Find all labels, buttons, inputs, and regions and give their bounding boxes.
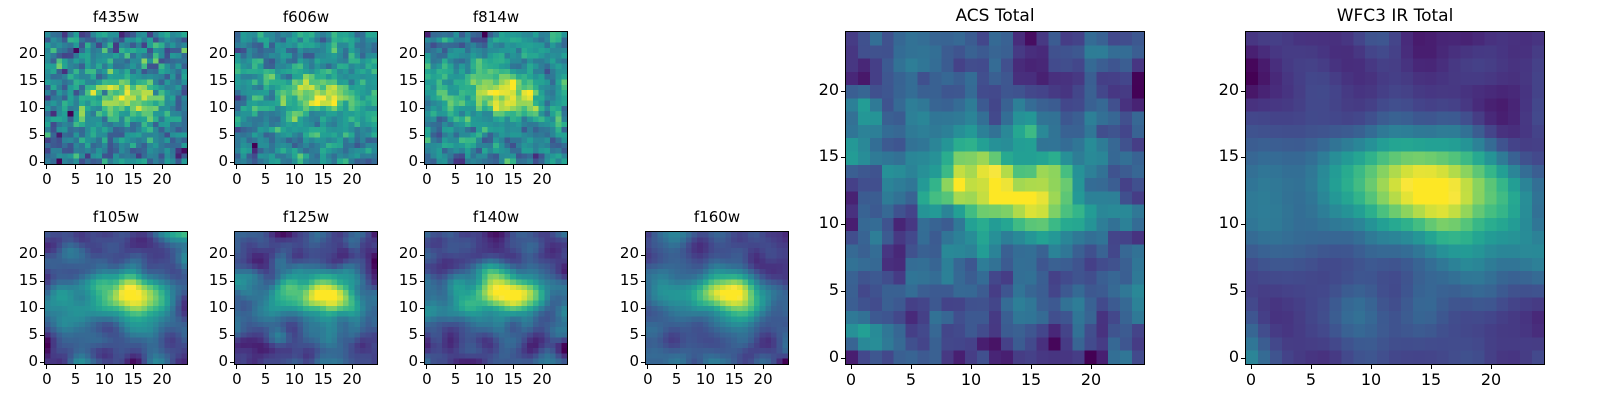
xtick-mark [162,165,163,169]
panel-title-f435w: f435w [44,8,188,26]
ytick-label: 5 [0,325,38,343]
ytick-mark [841,91,845,92]
ytick-mark [420,335,424,336]
ytick-mark [641,308,645,309]
ytick-label: 0 [186,152,228,170]
ytick-mark [40,281,44,282]
ytick-label: 5 [797,280,839,299]
xtick-mark [513,165,514,169]
xtick-mark [734,365,735,369]
ytick-label: 0 [1197,347,1239,366]
ytick-label: 5 [0,125,38,143]
ytick-label: 5 [186,125,228,143]
ytick-mark [841,224,845,225]
ytick-label: 5 [1197,280,1239,299]
ytick-label: 0 [797,347,839,366]
ytick-label: 0 [0,152,38,170]
xtick-label: 20 [332,170,372,188]
heatmap-acs_total [846,32,1144,364]
heatmap-wfc3_ir_total [1246,32,1544,364]
ytick-label: 15 [0,271,38,289]
ytick-mark [230,255,234,256]
ytick-mark [40,55,44,56]
xtick-mark [484,165,485,169]
ytick-mark [230,308,234,309]
xtick-label: 0 [1231,370,1271,389]
xtick-mark [162,365,163,369]
xtick-label: 5 [1291,370,1331,389]
ytick-label: 15 [186,71,228,89]
ytick-label: 15 [797,146,839,165]
xtick-label: 10 [951,370,991,389]
ytick-label: 20 [376,244,418,262]
ytick-label: 5 [186,325,228,343]
ytick-mark [420,281,424,282]
xtick-label: 10 [1351,370,1391,389]
ytick-label: 5 [597,325,639,343]
heatmap-f125w [235,232,377,364]
axes-f606w [234,31,378,165]
heatmap-f160w [646,232,788,364]
xtick-mark [647,365,648,369]
ytick-label: 10 [1197,213,1239,232]
ytick-label: 20 [376,44,418,62]
xtick-mark [1431,365,1432,369]
xtick-label: 20 [142,370,182,388]
xtick-mark [1251,365,1252,369]
xtick-mark [75,365,76,369]
axes-f105w [44,231,188,365]
heatmap-f606w [235,32,377,164]
xtick-mark [1491,365,1492,369]
ytick-mark [420,81,424,82]
ytick-label: 0 [376,152,418,170]
ytick-label: 15 [376,271,418,289]
ytick-mark [230,362,234,363]
xtick-mark [911,365,912,369]
ytick-label: 0 [376,352,418,370]
xtick-mark [542,165,543,169]
panel-title-f140w: f140w [424,208,568,226]
ytick-mark [420,55,424,56]
ytick-label: 10 [0,298,38,316]
xtick-mark [513,365,514,369]
xtick-mark [455,165,456,169]
ytick-label: 20 [597,244,639,262]
ytick-label: 0 [0,352,38,370]
ytick-label: 10 [186,98,228,116]
ytick-mark [230,135,234,136]
ytick-mark [40,108,44,109]
ytick-mark [641,255,645,256]
ytick-label: 0 [597,352,639,370]
xtick-mark [104,365,105,369]
ytick-label: 5 [376,125,418,143]
ytick-mark [841,157,845,158]
ytick-mark [40,362,44,363]
ytick-label: 20 [797,80,839,99]
xtick-mark [323,165,324,169]
xtick-mark [236,165,237,169]
xtick-label: 20 [522,170,562,188]
heatmap-f140w [425,232,567,364]
ytick-mark [230,162,234,163]
xtick-mark [763,365,764,369]
xtick-label: 20 [142,170,182,188]
xtick-mark [542,365,543,369]
xtick-mark [705,365,706,369]
xtick-mark [455,365,456,369]
ytick-label: 15 [0,71,38,89]
xtick-mark [851,365,852,369]
xtick-mark [484,365,485,369]
ytick-mark [1241,291,1245,292]
ytick-label: 20 [186,244,228,262]
xtick-mark [294,365,295,369]
xtick-label: 15 [1011,370,1051,389]
panel-title-f105w: f105w [44,208,188,226]
ytick-label: 15 [186,271,228,289]
ytick-label: 10 [0,98,38,116]
ytick-mark [420,255,424,256]
xtick-mark [1371,365,1372,369]
ytick-mark [641,362,645,363]
xtick-label: 20 [332,370,372,388]
ytick-mark [40,335,44,336]
xtick-mark [352,165,353,169]
xtick-mark [676,365,677,369]
panel-title-f606w: f606w [234,8,378,26]
xtick-mark [971,365,972,369]
ytick-mark [1241,91,1245,92]
ytick-label: 10 [376,298,418,316]
ytick-mark [641,281,645,282]
xtick-mark [1311,365,1312,369]
xtick-mark [265,165,266,169]
xtick-label: 20 [1471,370,1511,389]
ytick-label: 20 [1197,80,1239,99]
panel-title-f160w: f160w [645,208,789,226]
xtick-mark [352,365,353,369]
xtick-label: 5 [891,370,931,389]
ytick-mark [1241,224,1245,225]
panel-title-f125w: f125w [234,208,378,226]
xtick-mark [104,165,105,169]
axes-wfc3_ir_total [1245,31,1545,365]
xtick-label: 20 [743,370,783,388]
ytick-label: 5 [376,325,418,343]
ytick-label: 15 [376,71,418,89]
ytick-mark [420,108,424,109]
ytick-label: 10 [376,98,418,116]
xtick-label: 0 [831,370,871,389]
xtick-mark [1031,365,1032,369]
ytick-label: 10 [186,298,228,316]
ytick-mark [1241,358,1245,359]
axes-f140w [424,231,568,365]
xtick-mark [294,165,295,169]
ytick-label: 20 [0,244,38,262]
panel-title-wfc3_ir_total: WFC3 IR Total [1245,6,1545,26]
ytick-mark [420,162,424,163]
xtick-mark [265,365,266,369]
axes-acs_total [845,31,1145,365]
ytick-mark [230,81,234,82]
xtick-mark [46,365,47,369]
ytick-label: 15 [597,271,639,289]
ytick-mark [40,308,44,309]
ytick-label: 10 [797,213,839,232]
ytick-label: 20 [186,44,228,62]
xtick-mark [75,165,76,169]
xtick-mark [133,365,134,369]
xtick-label: 20 [522,370,562,388]
ytick-mark [40,255,44,256]
axes-f160w [645,231,789,365]
ytick-mark [230,281,234,282]
axes-f435w [44,31,188,165]
ytick-mark [420,308,424,309]
ytick-label: 0 [186,352,228,370]
ytick-mark [230,55,234,56]
ytick-mark [641,335,645,336]
panel-title-f814w: f814w [424,8,568,26]
ytick-mark [420,135,424,136]
xtick-mark [1091,365,1092,369]
axes-f125w [234,231,378,365]
heatmap-f105w [45,232,187,364]
ytick-mark [40,135,44,136]
axes-f814w [424,31,568,165]
ytick-label: 15 [1197,146,1239,165]
xtick-label: 15 [1411,370,1451,389]
ytick-mark [40,162,44,163]
heatmap-f814w [425,32,567,164]
xtick-label: 20 [1071,370,1111,389]
ytick-label: 10 [597,298,639,316]
xtick-mark [426,365,427,369]
ytick-mark [841,358,845,359]
xtick-mark [133,165,134,169]
ytick-label: 20 [0,44,38,62]
xtick-mark [426,165,427,169]
xtick-mark [323,365,324,369]
xtick-mark [236,365,237,369]
ytick-mark [230,335,234,336]
ytick-mark [841,291,845,292]
ytick-mark [1241,157,1245,158]
panel-title-acs_total: ACS Total [845,6,1145,26]
ytick-mark [230,108,234,109]
heatmap-f435w [45,32,187,164]
xtick-mark [46,165,47,169]
ytick-mark [40,81,44,82]
ytick-mark [420,362,424,363]
